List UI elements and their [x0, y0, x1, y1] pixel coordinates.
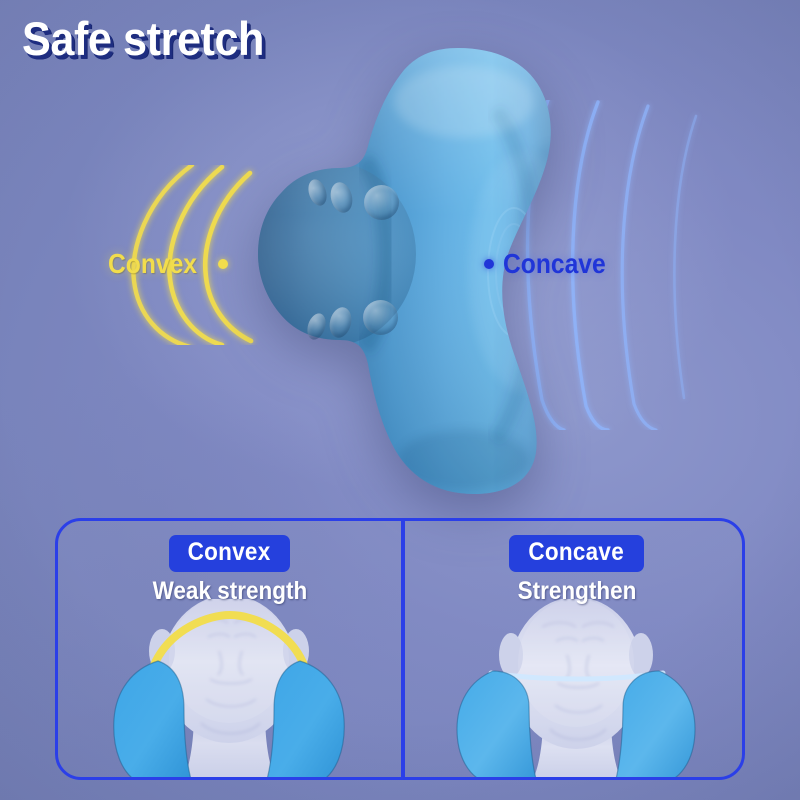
comparison-panels: Convex Weak strength	[55, 518, 745, 780]
figure-head-convex	[58, 599, 401, 777]
page-title: Safe stretch	[22, 15, 264, 62]
panel-divider	[401, 521, 405, 780]
panel-convex-subtitle: Weak strength	[144, 579, 316, 604]
figure-head-concave	[405, 599, 745, 777]
callout-concave: Concave	[484, 250, 620, 278]
callout-convex-label: Convex	[108, 250, 197, 278]
callout-concave-label: Concave	[503, 250, 606, 278]
panel-convex-badge: Convex	[169, 535, 289, 572]
callout-convex: Convex	[108, 250, 228, 278]
panel-convex: Convex Weak strength	[58, 521, 401, 777]
callout-concave-dot	[484, 259, 494, 269]
panel-concave-subtitle: Strengthen	[511, 579, 643, 604]
panel-concave: Concave Strengthen	[405, 521, 745, 777]
infographic-stage: Safe stretch Convex Concave	[0, 0, 800, 800]
panel-concave-badge: Concave	[509, 535, 643, 572]
callout-convex-dot	[218, 259, 228, 269]
